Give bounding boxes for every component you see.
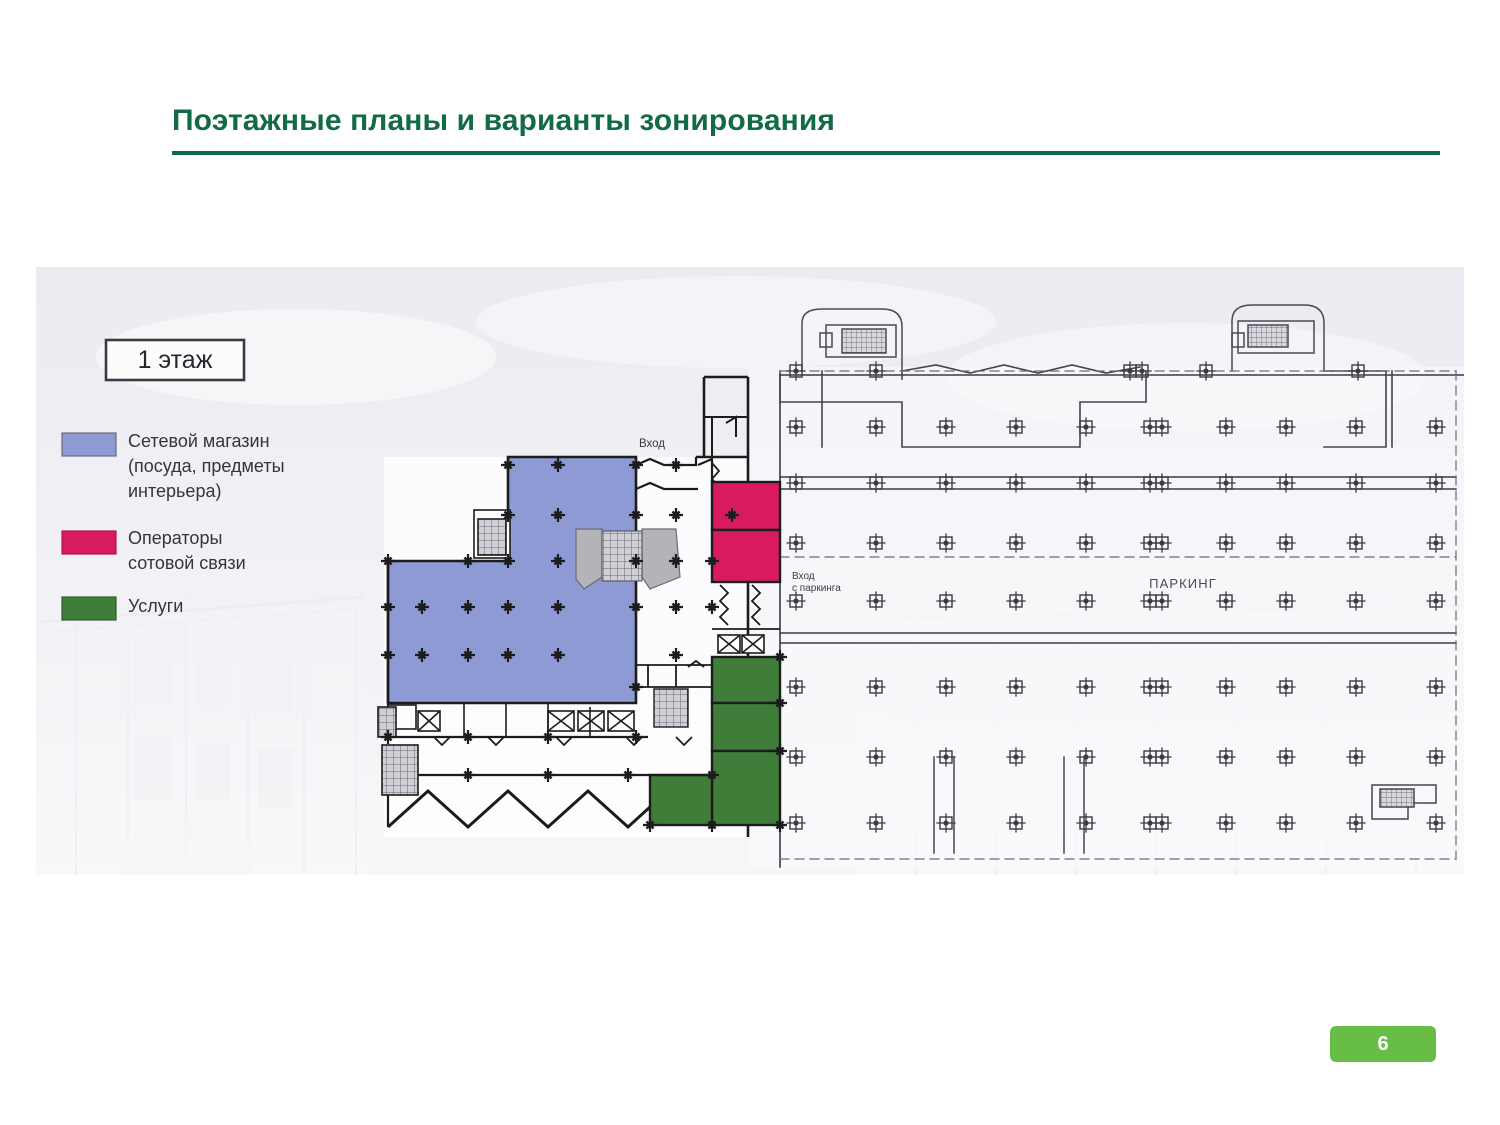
parking-zone: [748, 305, 1464, 867]
page-number-badge: 6: [1330, 1026, 1436, 1062]
parking-entrance-label-line1: Вход: [792, 571, 815, 582]
retail-stair-right: [654, 689, 688, 727]
legend-label-retail-2: (посуда, предметы: [128, 456, 285, 476]
legend-label-services-1: Услуги: [128, 596, 183, 616]
page-number: 6: [1377, 1033, 1388, 1056]
legend-label-retail-1: Сетевой магазин: [128, 431, 270, 451]
title-underline: [172, 151, 1440, 155]
parking-label: ПАРКИНГ: [1149, 576, 1217, 591]
legend-label-telecom-1: Операторы: [128, 528, 222, 548]
escalator-block: [576, 529, 680, 589]
parking-entrance-label-line2: с паркинга: [792, 583, 841, 594]
floor-badge: 1 этаж: [106, 340, 244, 380]
zone-telecom: [712, 482, 780, 582]
legend-label-telecom-2: сотовой связи: [128, 553, 246, 573]
floor-plan-image: ПАРКИНГ: [36, 267, 1464, 875]
floor-badge-label: 1 этаж: [138, 346, 213, 374]
slide-header: Поэтажные планы и варианты зонирования: [172, 104, 1442, 155]
legend-swatch-telecom: [62, 531, 116, 554]
legend-label-retail-3: интерьера): [128, 481, 221, 501]
legend-swatch-retail: [62, 433, 116, 456]
entrance-label: Вход: [639, 438, 665, 450]
legend-swatch-services: [62, 597, 116, 620]
page-title: Поэтажные планы и варианты зонирования: [172, 104, 1442, 137]
